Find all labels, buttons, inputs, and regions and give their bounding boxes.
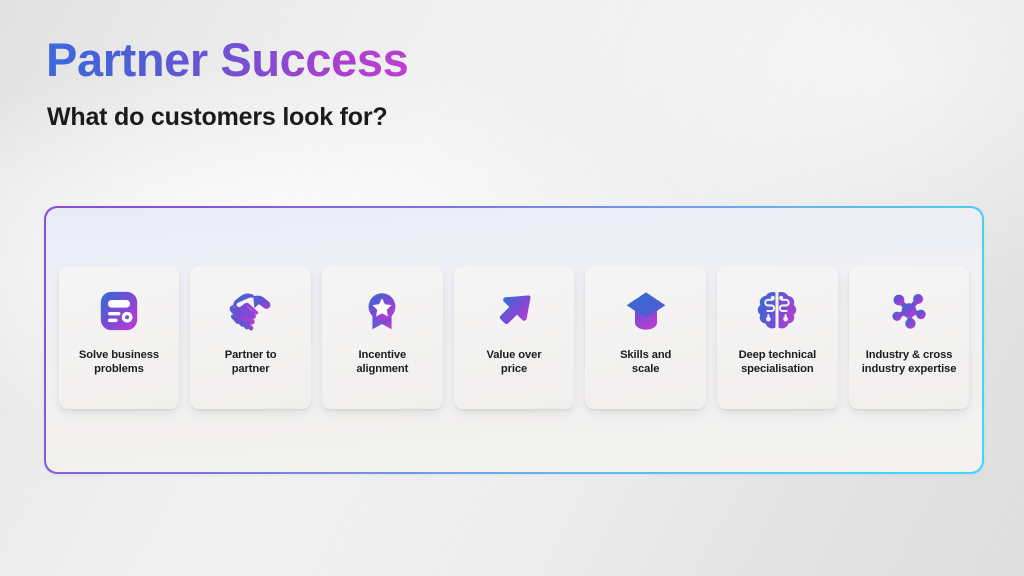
page-subtitle: What do customers look for? [47, 103, 387, 132]
form-list-icon [94, 286, 144, 336]
card-industry-cross-industry-expertise[interactable]: Industry & cross industry expertise [849, 266, 970, 409]
card-value-over-price[interactable]: Value over price [454, 266, 575, 409]
network-nodes-icon [884, 286, 934, 336]
card-label: Value over price [483, 348, 546, 378]
card-solve-business-problems[interactable]: Solve business problems [59, 266, 180, 409]
card-deep-technical-specialisation[interactable]: Deep technical specialisation [717, 266, 838, 409]
content-panel-border: Solve business problems [44, 206, 984, 474]
card-label: Skills and scale [616, 348, 675, 378]
card-skills-and-scale[interactable]: Skills and scale [585, 266, 706, 409]
page-title: Partner Success [46, 35, 408, 86]
arrow-up-right-icon [489, 286, 539, 336]
graduation-cap-icon [621, 286, 671, 336]
card-partner-to-partner[interactable]: Partner to partner [190, 266, 311, 409]
card-incentive-alignment[interactable]: Incentive alignment [322, 266, 443, 409]
card-row: Solve business problems [59, 266, 970, 409]
card-label: Partner to partner [221, 348, 281, 378]
content-panel: Solve business problems [46, 208, 983, 473]
award-medal-icon [357, 286, 407, 336]
brain-circuit-icon [752, 286, 802, 336]
card-label: Deep technical specialisation [735, 348, 821, 378]
card-label: Incentive alignment [352, 348, 412, 378]
card-label: Solve business problems [75, 348, 163, 378]
card-label: Industry & cross industry expertise [858, 348, 961, 378]
handshake-icon [226, 286, 276, 336]
